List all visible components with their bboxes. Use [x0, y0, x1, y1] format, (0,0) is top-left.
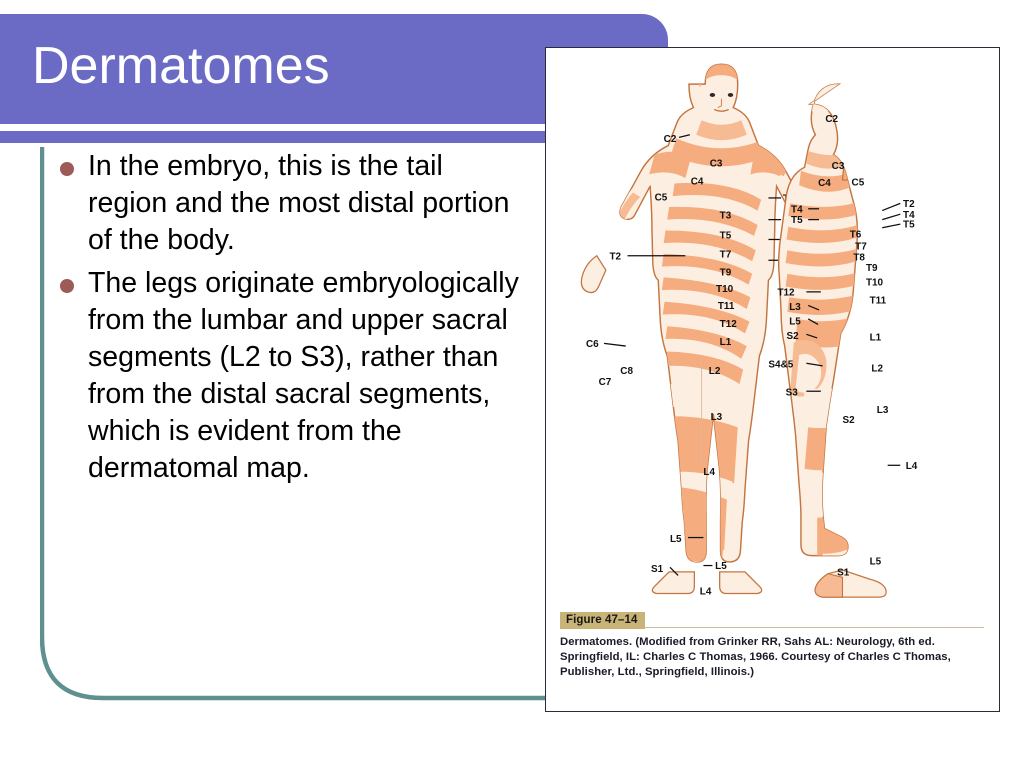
bullet-list: In the embryo, this is the tail region a… [60, 148, 528, 493]
page-title: Dermatomes [32, 40, 330, 92]
svg-text:C2: C2 [825, 114, 838, 125]
svg-text:C4: C4 [691, 176, 704, 187]
bullet-text: The legs originate embryologically from … [88, 265, 528, 487]
svg-text:L4: L4 [906, 461, 918, 472]
svg-text:T12: T12 [777, 287, 795, 298]
figure-number: Figure 47–14 [560, 612, 645, 629]
svg-text:S2: S2 [843, 415, 856, 426]
svg-text:C2: C2 [664, 134, 677, 145]
svg-text:T10: T10 [866, 278, 884, 289]
list-item: The legs originate embryologically from … [60, 265, 528, 487]
svg-text:L5: L5 [789, 316, 801, 327]
svg-text:T8: T8 [853, 252, 865, 263]
figure-panel: C2 C3 C4 C5 T2 T3 T4 T5 T6 T7 T8 T2 T9 T… [545, 47, 1000, 712]
svg-text:T3: T3 [720, 211, 732, 222]
svg-text:C7: C7 [599, 377, 612, 388]
svg-text:S4&5: S4&5 [768, 360, 793, 371]
svg-text:T10: T10 [716, 284, 734, 295]
svg-text:T2: T2 [609, 251, 621, 262]
svg-text:L3: L3 [711, 412, 723, 423]
figure-caption-block: Figure 47–14 Dermatomes. (Modified from … [560, 610, 984, 681]
svg-text:T11: T11 [718, 301, 735, 312]
svg-text:T5: T5 [791, 215, 803, 226]
bullet-dot-icon [60, 279, 74, 293]
svg-text:T5: T5 [903, 220, 915, 231]
svg-text:T11: T11 [870, 296, 887, 307]
svg-text:L4: L4 [703, 467, 715, 478]
svg-text:C3: C3 [710, 158, 723, 169]
list-item: In the embryo, this is the tail region a… [60, 148, 528, 259]
svg-text:L3: L3 [789, 302, 801, 313]
svg-text:T7: T7 [720, 250, 732, 261]
svg-text:C5: C5 [655, 193, 668, 204]
figure-number-rule: Figure 47–14 [560, 610, 984, 628]
svg-text:L5: L5 [670, 534, 682, 545]
dermatome-diagram: C2 C3 C4 C5 T2 T3 T4 T5 T6 T7 T8 T2 T9 T… [546, 48, 999, 608]
svg-text:L1: L1 [870, 333, 882, 344]
svg-text:T5: T5 [720, 231, 732, 242]
svg-text:L4: L4 [700, 586, 712, 597]
svg-text:C5: C5 [852, 177, 865, 188]
svg-text:T6: T6 [850, 230, 862, 241]
svg-text:C6: C6 [586, 339, 599, 350]
svg-text:L5: L5 [870, 557, 882, 568]
svg-text:S1: S1 [651, 564, 664, 575]
figure-caption: Dermatomes. (Modified from Grinker RR, S… [560, 635, 984, 681]
svg-text:C4: C4 [818, 178, 831, 189]
svg-text:C8: C8 [620, 366, 633, 377]
svg-text:T9: T9 [866, 263, 878, 274]
lateral-figure: C2 C3 C4 C5 T4 T5 T2 T4 T5 T6 T7 T8 T9 T… [768, 80, 917, 597]
svg-text:S1: S1 [837, 567, 850, 578]
bullet-text: In the embryo, this is the tail region a… [88, 148, 528, 259]
svg-text:L1: L1 [720, 337, 732, 348]
svg-text:S3: S3 [786, 388, 799, 399]
svg-text:L2: L2 [871, 363, 883, 374]
svg-text:T12: T12 [720, 319, 738, 330]
svg-text:T9: T9 [720, 268, 732, 279]
svg-text:C3: C3 [832, 161, 845, 172]
svg-text:T2: T2 [903, 199, 915, 210]
svg-text:T7: T7 [855, 241, 867, 252]
svg-text:L2: L2 [709, 366, 721, 377]
svg-text:S2: S2 [787, 331, 800, 342]
slide-canvas: Dermatomes In the embryo, this is the ta… [0, 0, 1024, 768]
bullet-dot-icon [60, 162, 74, 176]
svg-text:T4: T4 [791, 204, 803, 215]
svg-text:L5: L5 [715, 561, 727, 572]
svg-text:L3: L3 [877, 405, 889, 416]
